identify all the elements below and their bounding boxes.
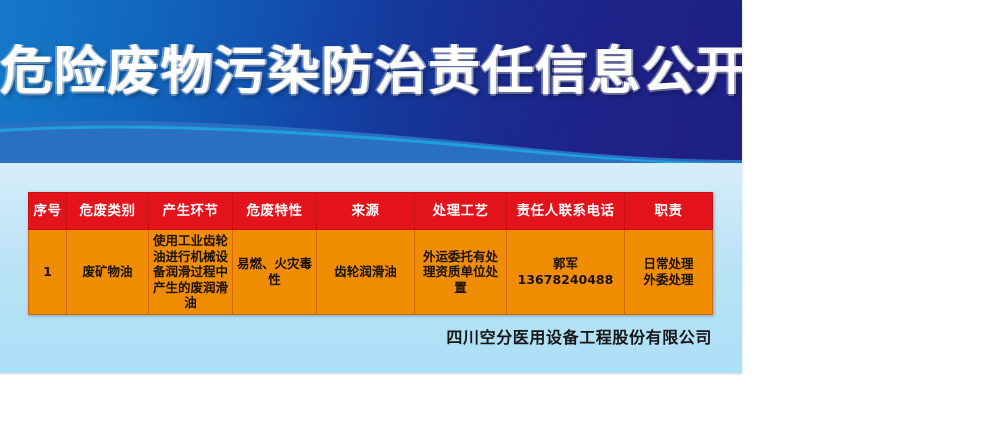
- cell-duty: 日常处理 外委处理: [625, 230, 713, 315]
- poster-board: 危险废物污染防治责任信息公开 序号 危废类别 产生环节 危废特性 来源 处理工艺…: [0, 0, 742, 373]
- cell-source: 齿轮润滑油: [317, 230, 415, 315]
- company-name: 四川空分医用设备工程股份有限公司: [0, 328, 712, 348]
- cell-seq: 1: [29, 230, 67, 315]
- column-header-duty: 职责: [625, 193, 713, 230]
- table-header-row: 序号 危废类别 产生环节 危废特性 来源 处理工艺 责任人联系电话 职责: [29, 193, 713, 230]
- cell-property: 易燃、火灾毒性: [233, 230, 317, 315]
- responsible-person-phone: 13678240488: [509, 272, 622, 288]
- banner-header: 危险废物污染防治责任信息公开: [0, 0, 742, 163]
- column-header-phone: 责任人联系电话: [507, 193, 625, 230]
- duty-line-1: 日常处理: [627, 256, 710, 272]
- column-header-category: 危废类别: [67, 193, 149, 230]
- table-row: 1 废矿物油 使用工业齿轮油进行机械设备润滑过程中产生的废润滑油 易燃、火灾毒性…: [29, 230, 713, 315]
- column-header-seq: 序号: [29, 193, 67, 230]
- column-header-stage: 产生环节: [149, 193, 233, 230]
- cell-category: 废矿物油: [67, 230, 149, 315]
- duty-line-2: 外委处理: [627, 272, 710, 288]
- column-header-property: 危废特性: [233, 193, 317, 230]
- cell-responsible-contact: 郭军 13678240488: [507, 230, 625, 315]
- hazardous-waste-table: 序号 危废类别 产生环节 危废特性 来源 处理工艺 责任人联系电话 职责 1 废…: [28, 192, 713, 315]
- responsible-person-name: 郭军: [509, 256, 622, 272]
- cell-process: 外运委托有处理资质单位处置: [415, 230, 507, 315]
- column-header-source: 来源: [317, 193, 415, 230]
- page-title: 危险废物污染防治责任信息公开: [0, 43, 742, 101]
- cell-stage: 使用工业齿轮油进行机械设备润滑过程中产生的废润滑油: [149, 230, 233, 315]
- column-header-process: 处理工艺: [415, 193, 507, 230]
